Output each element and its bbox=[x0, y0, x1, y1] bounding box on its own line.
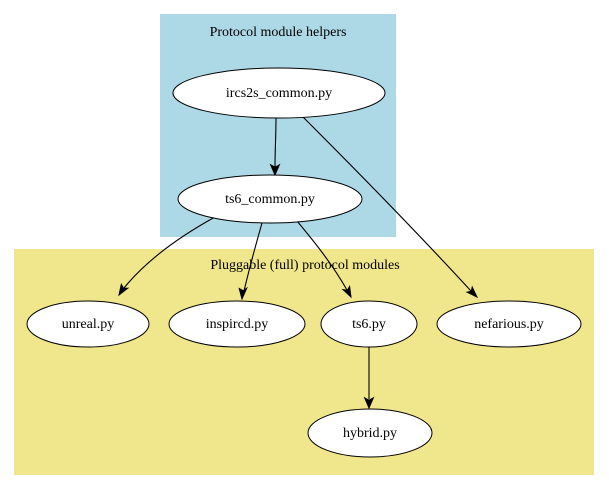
cluster-pluggable-background bbox=[14, 249, 594, 475]
cluster-helpers-label: Protocol module helpers bbox=[210, 25, 347, 40]
node-ircs2s_common[interactable]: ircs2s_common.py bbox=[173, 68, 385, 118]
node-label: unreal.py bbox=[62, 317, 114, 332]
node-label: ts6_common.py bbox=[225, 192, 315, 207]
cluster-pluggable-label: Pluggable (full) protocol modules bbox=[210, 258, 399, 273]
node-ts6[interactable]: ts6.py bbox=[321, 301, 417, 347]
node-label: ircs2s_common.py bbox=[226, 86, 332, 101]
node-inspircd[interactable]: inspircd.py bbox=[169, 301, 305, 347]
node-label: nefarious.py bbox=[474, 317, 544, 332]
node-label: ts6.py bbox=[352, 317, 386, 332]
cluster-pluggable: Pluggable (full) protocol modules bbox=[14, 249, 594, 475]
node-hybrid[interactable]: hybrid.py bbox=[308, 409, 432, 457]
node-label: hybrid.py bbox=[343, 426, 397, 441]
node-label: inspircd.py bbox=[206, 317, 269, 332]
node-nefarious[interactable]: nefarious.py bbox=[437, 301, 581, 347]
node-unreal[interactable]: unreal.py bbox=[27, 301, 149, 347]
dependency-graph: Protocol module helpers Pluggable (full)… bbox=[0, 0, 609, 490]
node-ts6_common[interactable]: ts6_common.py bbox=[178, 175, 362, 223]
diagram-canvas: Protocol module helpers Pluggable (full)… bbox=[0, 0, 609, 490]
